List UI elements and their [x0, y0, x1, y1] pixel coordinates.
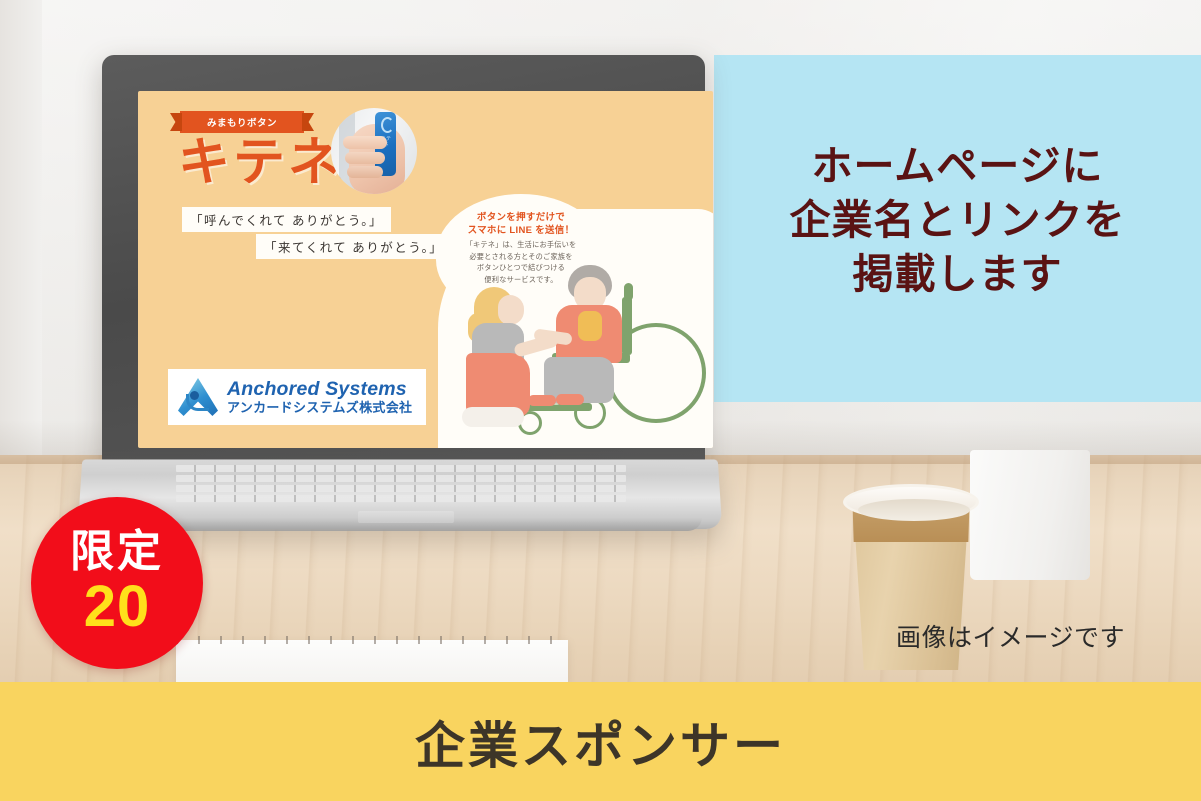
laptop-keyboard — [176, 465, 626, 505]
bubble-body-line-1: 「キテネ」は、生活にお手伝いを — [438, 239, 604, 251]
quote-line-1: 「呼んでくれて ありがとう。」 — [182, 207, 391, 232]
keyboard-row — [176, 475, 626, 482]
device-photo-circle: キテネ — [331, 108, 417, 194]
product-name-text: キテネ — [178, 134, 343, 192]
limited-quantity-badge: 限定 20 — [31, 497, 203, 669]
bottom-banner-text: 企業スポンサー — [415, 706, 786, 778]
blue-panel-line-1: ホームページに — [714, 139, 1201, 193]
caregiver-illustration — [456, 261, 706, 447]
company-name-english: Anchored Systems — [227, 379, 412, 399]
white-object-background — [970, 450, 1090, 580]
keyboard-row — [176, 485, 626, 492]
company-name-japanese: アンカードシステムズ株式会社 — [227, 401, 412, 415]
badge-number: 20 — [84, 578, 151, 636]
laptop: みまもりボタン キテネ キテネ — [80, 55, 720, 585]
screen-content: みまもりボタン キテネ キテネ — [138, 91, 713, 448]
elderly-inner-top — [578, 311, 602, 341]
logo-dot-shape — [190, 391, 199, 400]
poster-canvas: ホームページに 企業名とリンクを 掲載します みまもりボタン キテネ — [0, 0, 1201, 801]
company-logo-block: Anchored Systems アンカードシステムズ株式会社 — [168, 369, 426, 425]
caregiver-face — [498, 295, 524, 325]
cup-rim — [843, 484, 979, 520]
ribbon-label: みまもりボタン — [207, 115, 277, 129]
keyboard-row — [176, 495, 626, 502]
laptop-trackpad — [358, 511, 454, 523]
blue-panel-line-2: 企業名とリンクを — [714, 193, 1201, 247]
elderly-shoe-left — [528, 395, 556, 406]
blue-panel-text: ホームページに 企業名とリンクを 掲載します — [714, 139, 1201, 301]
finger-2 — [345, 152, 385, 164]
bubble-headline: ボタンを押すだけで スマホに LINE を送信！ — [438, 211, 604, 237]
blue-panel-line-3: 掲載します — [714, 247, 1201, 301]
bottom-banner: 企業スポンサー — [0, 682, 1201, 801]
laptop-screen: みまもりボタン キテネ キテネ — [138, 91, 713, 448]
product-logo-title: キテネ — [178, 137, 351, 189]
disclaimer-text: 画像はイメージです — [896, 618, 1125, 654]
keyboard-row — [176, 465, 626, 472]
cup-inner-opening — [858, 499, 970, 521]
anchored-systems-logo-icon — [176, 376, 220, 418]
bubble-headline-line-1: ボタンを押すだけで — [438, 211, 604, 224]
finger-3 — [347, 166, 383, 178]
quote-line-2: 「来てくれて ありがとう。」 — [256, 234, 451, 259]
ribbon-banner: みまもりボタン — [180, 111, 304, 133]
notebook-spiral-binding — [176, 636, 568, 644]
company-logo-text: Anchored Systems アンカードシステムズ株式会社 — [227, 379, 412, 415]
wheelchair-backrest — [622, 297, 632, 355]
bubble-headline-line-2: スマホに LINE を送信！ — [438, 224, 604, 237]
finger-1 — [343, 136, 387, 149]
badge-label: 限定 — [70, 530, 164, 574]
elderly-shoe-right — [556, 394, 584, 405]
caregiver-leg — [462, 407, 524, 427]
laptop-lid: みまもりボタン キテネ キテネ — [102, 55, 705, 465]
spiral-notebook — [176, 640, 568, 684]
background-wall-left-panel — [0, 0, 42, 470]
wheelchair-push-handle — [624, 283, 633, 301]
blue-info-panel: ホームページに 企業名とリンクを 掲載します — [714, 55, 1201, 402]
